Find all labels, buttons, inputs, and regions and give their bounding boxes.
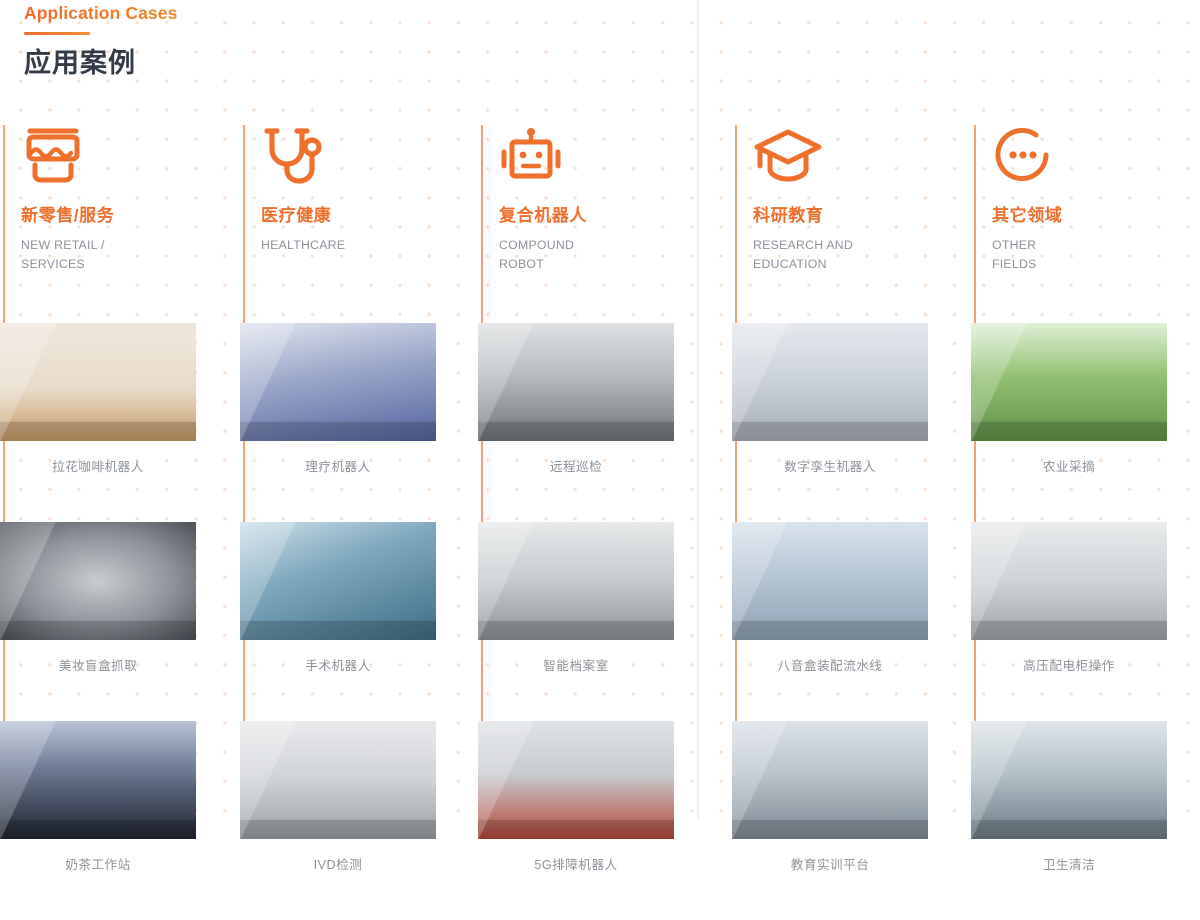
photo-restroom-cleaning xyxy=(971,721,1167,839)
photo-overlay xyxy=(0,522,196,640)
section-header: Application Cases 应用案例 xyxy=(24,0,177,79)
photo-digital-twin xyxy=(732,323,928,441)
application-cases-page: Application Cases 应用案例 新零售/服务NEW RETAIL … xyxy=(0,0,1200,819)
photo-overlay xyxy=(240,721,436,839)
photo-overlay xyxy=(478,522,674,640)
section-title-english: Application Cases xyxy=(24,0,177,24)
category-subtitle-line: EDUCATION xyxy=(753,255,972,274)
photo-overlay xyxy=(240,522,436,640)
category-subtitle-english: HEALTHCARE xyxy=(261,236,480,255)
case-card[interactable]: 农业采摘 xyxy=(971,323,1200,475)
category-subtitle-line: COMPOUND xyxy=(499,236,718,255)
category-subtitle-english: OTHERFIELDS xyxy=(992,236,1200,273)
category-title-chinese[interactable]: 其它领域 xyxy=(992,205,1200,227)
category-column-3: 复合机器人COMPOUNDROBOT远程巡检智能档案室5G排障机器人 xyxy=(478,125,718,273)
photo-surgery-robot xyxy=(240,522,436,640)
photo-milk-tea-station xyxy=(0,721,196,839)
category-title-chinese[interactable]: 医疗健康 xyxy=(261,205,480,227)
case-card-list: 农业采摘高压配电柜操作卫生清洁 xyxy=(971,323,1200,920)
case-thumbnail[interactable] xyxy=(732,323,928,441)
case-card[interactable]: 5G排障机器人 xyxy=(478,721,718,873)
case-caption: 卫生清洁 xyxy=(971,854,1167,873)
title-underline-bar xyxy=(24,32,90,35)
photo-coffee-kiosk xyxy=(0,323,196,441)
case-thumbnail[interactable] xyxy=(240,323,436,441)
category-title-chinese[interactable]: 复合机器人 xyxy=(499,205,718,227)
case-caption: 高压配电柜操作 xyxy=(971,655,1167,674)
case-card-list: 理疗机器人手术机器人IVD检测 xyxy=(240,323,480,920)
photo-training-platform xyxy=(732,721,928,839)
category-column-1: 新零售/服务NEW RETAIL /SERVICES拉花咖啡机器人美妆盲盒抓取奶… xyxy=(0,125,240,273)
photo-smart-archive xyxy=(478,522,674,640)
case-card[interactable]: 手术机器人 xyxy=(240,522,480,674)
case-card[interactable]: 美妆盲盒抓取 xyxy=(0,522,240,674)
photo-ivd-lab xyxy=(240,721,436,839)
section-title-chinese: 应用案例 xyxy=(24,47,177,79)
case-caption: 远程巡检 xyxy=(478,456,674,475)
case-thumbnail[interactable] xyxy=(0,522,196,640)
case-caption: 手术机器人 xyxy=(240,655,436,674)
case-thumbnail[interactable] xyxy=(0,721,196,839)
photo-greenhouse-harvest xyxy=(971,323,1167,441)
case-card[interactable]: 拉花咖啡机器人 xyxy=(0,323,240,475)
case-thumbnail[interactable] xyxy=(240,721,436,839)
case-card-list: 远程巡检智能档案室5G排障机器人 xyxy=(478,323,718,920)
photo-overlay xyxy=(240,323,436,441)
case-caption: 美妆盲盒抓取 xyxy=(0,655,196,674)
photo-switchgear-ops xyxy=(971,522,1167,640)
category-subtitle-line: FIELDS xyxy=(992,255,1200,274)
case-card[interactable]: 卫生清洁 xyxy=(971,721,1200,873)
case-thumbnail[interactable] xyxy=(478,323,674,441)
photo-overlay xyxy=(478,721,674,839)
case-card[interactable]: 教育实训平台 xyxy=(732,721,972,873)
case-thumbnail[interactable] xyxy=(971,721,1167,839)
case-card[interactable]: 智能档案室 xyxy=(478,522,718,674)
case-card[interactable]: 远程巡检 xyxy=(478,323,718,475)
case-card[interactable]: 奶茶工作站 xyxy=(0,721,240,873)
category-subtitle-english: NEW RETAIL /SERVICES xyxy=(21,236,240,273)
case-card[interactable]: 高压配电柜操作 xyxy=(971,522,1200,674)
case-caption: IVD检测 xyxy=(240,854,436,873)
category-subtitle-line: HEALTHCARE xyxy=(261,236,480,255)
photo-overlay xyxy=(0,323,196,441)
photo-assembly-line xyxy=(732,522,928,640)
case-card-list: 拉花咖啡机器人美妆盲盒抓取奶茶工作站 xyxy=(0,323,240,920)
category-subtitle-line: OTHER xyxy=(992,236,1200,255)
photo-overlay xyxy=(732,721,928,839)
ellipsis-circle-icon xyxy=(992,125,1200,187)
case-thumbnail[interactable] xyxy=(240,522,436,640)
category-subtitle-line: ROBOT xyxy=(499,255,718,274)
category-title-chinese[interactable]: 新零售/服务 xyxy=(21,205,240,227)
case-caption: 八音盒装配流水线 xyxy=(732,655,928,674)
case-card-list: 数字孪生机器人八音盒装配流水线教育实训平台 xyxy=(732,323,972,920)
case-thumbnail[interactable] xyxy=(0,323,196,441)
category-subtitle-line: RESEARCH AND xyxy=(753,236,972,255)
stethoscope-icon xyxy=(261,125,480,187)
case-thumbnail[interactable] xyxy=(478,721,674,839)
photo-overlay xyxy=(971,721,1167,839)
case-thumbnail[interactable] xyxy=(971,323,1167,441)
case-caption: 智能档案室 xyxy=(478,655,674,674)
photo-overlay xyxy=(0,721,196,839)
photo-physio-robot xyxy=(240,323,436,441)
case-thumbnail[interactable] xyxy=(971,522,1167,640)
case-thumbnail[interactable] xyxy=(478,522,674,640)
photo-overlay xyxy=(971,323,1167,441)
category-column-2: 医疗健康HEALTHCARE理疗机器人手术机器人IVD检测 xyxy=(240,125,480,255)
photo-overlay xyxy=(732,522,928,640)
case-card[interactable]: 数字孪生机器人 xyxy=(732,323,972,475)
category-subtitle-line: SERVICES xyxy=(21,255,240,274)
photo-overlay xyxy=(478,323,674,441)
case-card[interactable]: 八音盒装配流水线 xyxy=(732,522,972,674)
photo-overlay xyxy=(971,522,1167,640)
shop-awning-icon xyxy=(21,125,240,187)
case-thumbnail[interactable] xyxy=(732,522,928,640)
case-caption: 奶茶工作站 xyxy=(0,854,196,873)
case-caption: 教育实训平台 xyxy=(732,854,928,873)
case-caption: 农业采摘 xyxy=(971,456,1167,475)
category-subtitle-english: COMPOUNDROBOT xyxy=(499,236,718,273)
photo-warehouse-aisle xyxy=(0,522,196,640)
case-card[interactable]: IVD检测 xyxy=(240,721,480,873)
category-title-chinese[interactable]: 科研教育 xyxy=(753,205,972,227)
case-thumbnail[interactable] xyxy=(732,721,928,839)
case-caption: 理疗机器人 xyxy=(240,456,436,475)
case-caption: 5G排障机器人 xyxy=(478,854,674,873)
category-subtitle-english: RESEARCH ANDEDUCATION xyxy=(753,236,972,273)
case-card[interactable]: 理疗机器人 xyxy=(240,323,480,475)
case-caption: 拉花咖啡机器人 xyxy=(0,456,196,475)
photo-5g-repair-robot xyxy=(478,721,674,839)
category-subtitle-line: NEW RETAIL / xyxy=(21,236,240,255)
graduation-cap-icon xyxy=(753,125,972,187)
robot-head-icon xyxy=(499,125,718,187)
case-caption: 数字孪生机器人 xyxy=(732,456,928,475)
photo-inspection-agv xyxy=(478,323,674,441)
photo-overlay xyxy=(732,323,928,441)
category-column-5: 其它领域OTHERFIELDS农业采摘高压配电柜操作卫生清洁 xyxy=(971,125,1200,273)
category-column-4: 科研教育RESEARCH ANDEDUCATION数字孪生机器人八音盒装配流水线… xyxy=(732,125,972,273)
